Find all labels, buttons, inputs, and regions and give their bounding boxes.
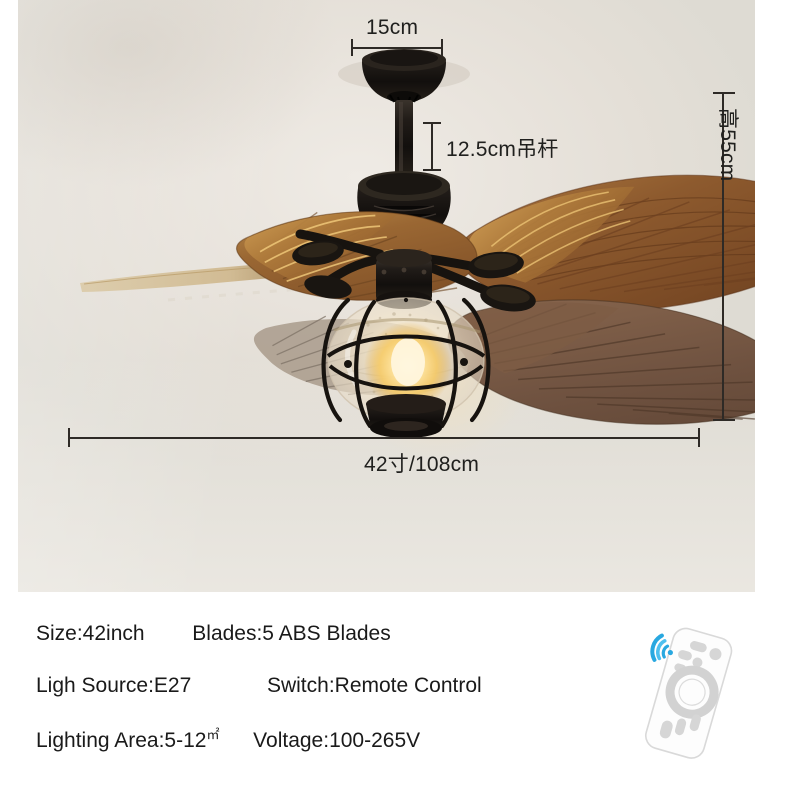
span-dimension-label: 42寸/108cm [364,448,479,478]
product-spec-image: 15cm 12.5cm吊杆 高55cm 42寸/108cm Size:42inc… [0,0,800,800]
spec-switch: Switch:Remote Control [267,674,482,698]
height-dim-tick-top [713,92,735,94]
height-dim-tick-bottom [713,419,735,421]
product-photo: 15cm 12.5cm吊杆 高55cm 42寸/108cm [18,0,755,592]
canopy-dimension-label: 15cm [366,16,418,40]
span-dimension-line [68,437,700,439]
downrod-dimension-line [431,122,433,171]
canopy-dim-tick-left [351,39,353,56]
spec-row: Size:42inch Blades:5 ABS Blades [36,622,391,646]
spec-row: Lighting Area:5-12㎡ Voltage:100-265V [36,724,420,753]
canopy-dimension-line [351,47,443,49]
spec-light-source: Ligh Source:E27 [36,674,191,697]
spec-lighting-area: Lighting Area:5-12 [36,729,206,752]
canopy-dim-tick-right [441,39,443,56]
spec-size: Size:42inch [36,622,145,645]
spec-row: Ligh Source:E27 Switch:Remote Control [36,674,482,698]
ceiling-fan-illustration [18,0,755,592]
downrod-dimension-label: 12.5cm吊杆 [446,133,558,163]
downrod-dim-tick-bottom [423,169,441,171]
downrod-dim-tick-top [423,122,441,124]
span-dim-tick-left [68,428,70,447]
spec-voltage: Voltage:100-265V [253,729,420,753]
spec-blades: Blades:5 ABS Blades [192,622,390,646]
remote-control-illustration [612,618,782,778]
spec-lighting-area-unit: ㎡ [206,727,219,742]
height-dimension-label: 高55cm [714,108,744,181]
span-dim-tick-right [698,428,700,447]
